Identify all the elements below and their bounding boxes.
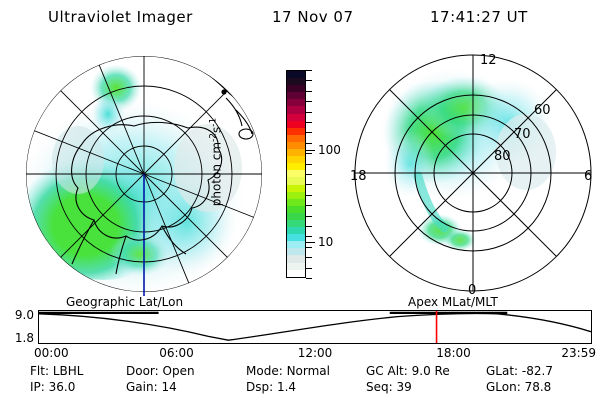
status-gain: Gain: 14 [126,380,177,394]
colorbar-tick [306,257,312,258]
orbit-y-tick-label: 9.0 [15,308,34,322]
orbit-x-tick-label: 06:00 [159,346,194,360]
status-block: Flt: LBHL IP: 36.0 Door: Open Gain: 14 M… [0,364,600,398]
colorbar-tick [306,164,312,165]
instrument-title: Ultraviolet Imager [48,8,193,26]
colorbar-tick [306,101,312,102]
colorbar-band [287,156,305,163]
status-seq: Seq: 39 [366,380,412,394]
gain-key: Gain: [126,380,158,394]
status-dsp: Dsp: 1.4 [246,380,296,394]
colorbar-tick [306,70,312,71]
colorbar-band [287,106,305,113]
colorbar-band [287,185,305,192]
colorbar-band [287,206,305,213]
observation-time: 17:41:27 UT [430,8,528,26]
colorbar-band [287,177,305,184]
orbit-x-tick-label: 23:59 [561,346,596,360]
colorbar-unit-photon: photon cm [210,142,224,206]
mlt-label-6: 6 [584,169,592,184]
status-filter: Flt: LBHL [30,364,83,378]
colorbar-band [287,234,305,241]
colorbar-band [287,149,305,156]
header-bar: Ultraviolet Imager 17 Nov 07 17:41:27 UT [0,5,600,31]
status-glon: GLon: 78.8 [486,380,551,394]
seq-value: 39 [397,380,412,394]
colorbar-band [287,142,305,149]
colorbar-tick [306,91,312,92]
mlat-label-80: 80 [494,149,511,164]
magnetic-image-panel: 12 18 6 0 60 70 80 [348,48,598,298]
colorbar-tick [306,278,312,279]
gcalt-value: 9.0 Re [412,364,450,378]
colorbar-band [287,220,305,227]
altitude-trace [39,313,591,340]
colorbar-tick [306,184,312,185]
colorbar-band [287,71,305,78]
dsp-key: Dsp: [246,380,273,394]
colorbar-tick-major [306,242,315,243]
colorbar-tick-label: 100 [318,143,341,157]
mlat-label-60: 60 [534,103,551,118]
status-glat: GLat: -82.7 [486,364,553,378]
orbit-curve [39,311,591,343]
colorbar-band [287,163,305,170]
colorbar-tick [306,195,312,196]
colorbar-group: 10010 photon cm-2s-1 [262,58,348,294]
door-value: Open [163,364,195,378]
colorbar-band [287,121,305,128]
glat-value: -82.7 [522,364,553,378]
colorbar-exp-1: -2 [209,133,219,142]
colorbar-tick [306,122,312,123]
seq-key: Seq: [366,380,393,394]
colorbar-band [287,213,305,220]
mlt-label-12: 12 [480,53,497,68]
filter-key: Flt: [30,364,49,378]
colorbar-tick [306,112,312,113]
orbit-y-tick-label: 1.8 [15,331,34,345]
colorbar-tick [306,226,312,227]
colorbar-tick [306,143,312,144]
dsp-value: 1.4 [277,380,296,394]
colorbar-tick [306,205,312,206]
colorbar-band [287,255,305,262]
mlt-label-18: 18 [350,169,367,184]
colorbar-tick-label: 10 [318,235,333,249]
colorbar-band [287,227,305,234]
status-mode: Mode: Normal [246,364,330,378]
filter-value: LBHL [53,364,84,378]
colorbar-tick [306,216,312,217]
ip-value: 36.0 [49,380,76,394]
glat-key: GLat: [486,364,518,378]
gain-value: 14 [161,380,176,394]
gcalt-key: GC Alt: [366,364,408,378]
colorbar-band [287,199,305,206]
colorbar-band [287,92,305,99]
colorbar-band [287,192,305,199]
uvi-display: Ultraviolet Imager 17 Nov 07 17:41:27 UT [0,0,600,400]
orbit-x-tick-label: 12:00 [298,346,333,360]
colorbar-exp-2: -1 [209,118,219,127]
observation-date: 17 Nov 07 [272,8,354,26]
glon-value: 78.8 [525,380,552,394]
glon-key: GLon: [486,380,521,394]
colorbar-band [287,78,305,85]
colorbar-tick [306,132,312,133]
orbit-x-tick-label: 00:00 [34,346,69,360]
colorbar-band [287,99,305,106]
status-door: Door: Open [126,364,195,378]
magnetic-plot: 12 18 6 0 60 70 80 [348,48,598,298]
mlat-label-70: 70 [514,127,531,142]
ip-key: IP: [30,380,45,394]
colorbar-tick [306,80,312,81]
status-gcalt: GC Alt: 9.0 Re [366,364,450,378]
geographic-plot [12,48,270,296]
colorbar-band [287,135,305,142]
orbit-x-tick-label: 18:00 [436,346,471,360]
colorbar-band [287,263,305,270]
colorbar-tick [306,247,312,248]
colorbar-band [287,270,305,277]
colorbar-band [287,114,305,121]
colorbar-band [287,241,305,248]
status-ip: IP: 36.0 [30,380,75,394]
orbit-altitude-plot [38,310,592,344]
colorbar-band [287,248,305,255]
magnetic-panel-caption: Apex MLat/MLT [408,295,498,309]
geographic-panel-caption: Geographic Lat/Lon [66,295,183,309]
mode-value: Normal [287,364,330,378]
geographic-image-panel [12,48,270,296]
colorbar-axis: 10010 [306,70,348,278]
mode-key: Mode: [246,364,283,378]
colorbar-tick [306,268,312,269]
colorbar-gradient [286,70,306,278]
mlt-spokes [355,55,591,291]
colorbar-unit-s: s [210,127,224,133]
colorbar-tick [306,153,312,154]
colorbar-axis-title: photon cm-2s-1 [209,62,224,262]
colorbar-band [287,85,305,92]
colorbar-tick [306,174,312,175]
colorbar-band [287,170,305,177]
door-key: Door: [126,364,159,378]
colorbar-tick [306,236,312,237]
colorbar-band [287,128,305,135]
colorbar-tick-major [306,150,315,151]
